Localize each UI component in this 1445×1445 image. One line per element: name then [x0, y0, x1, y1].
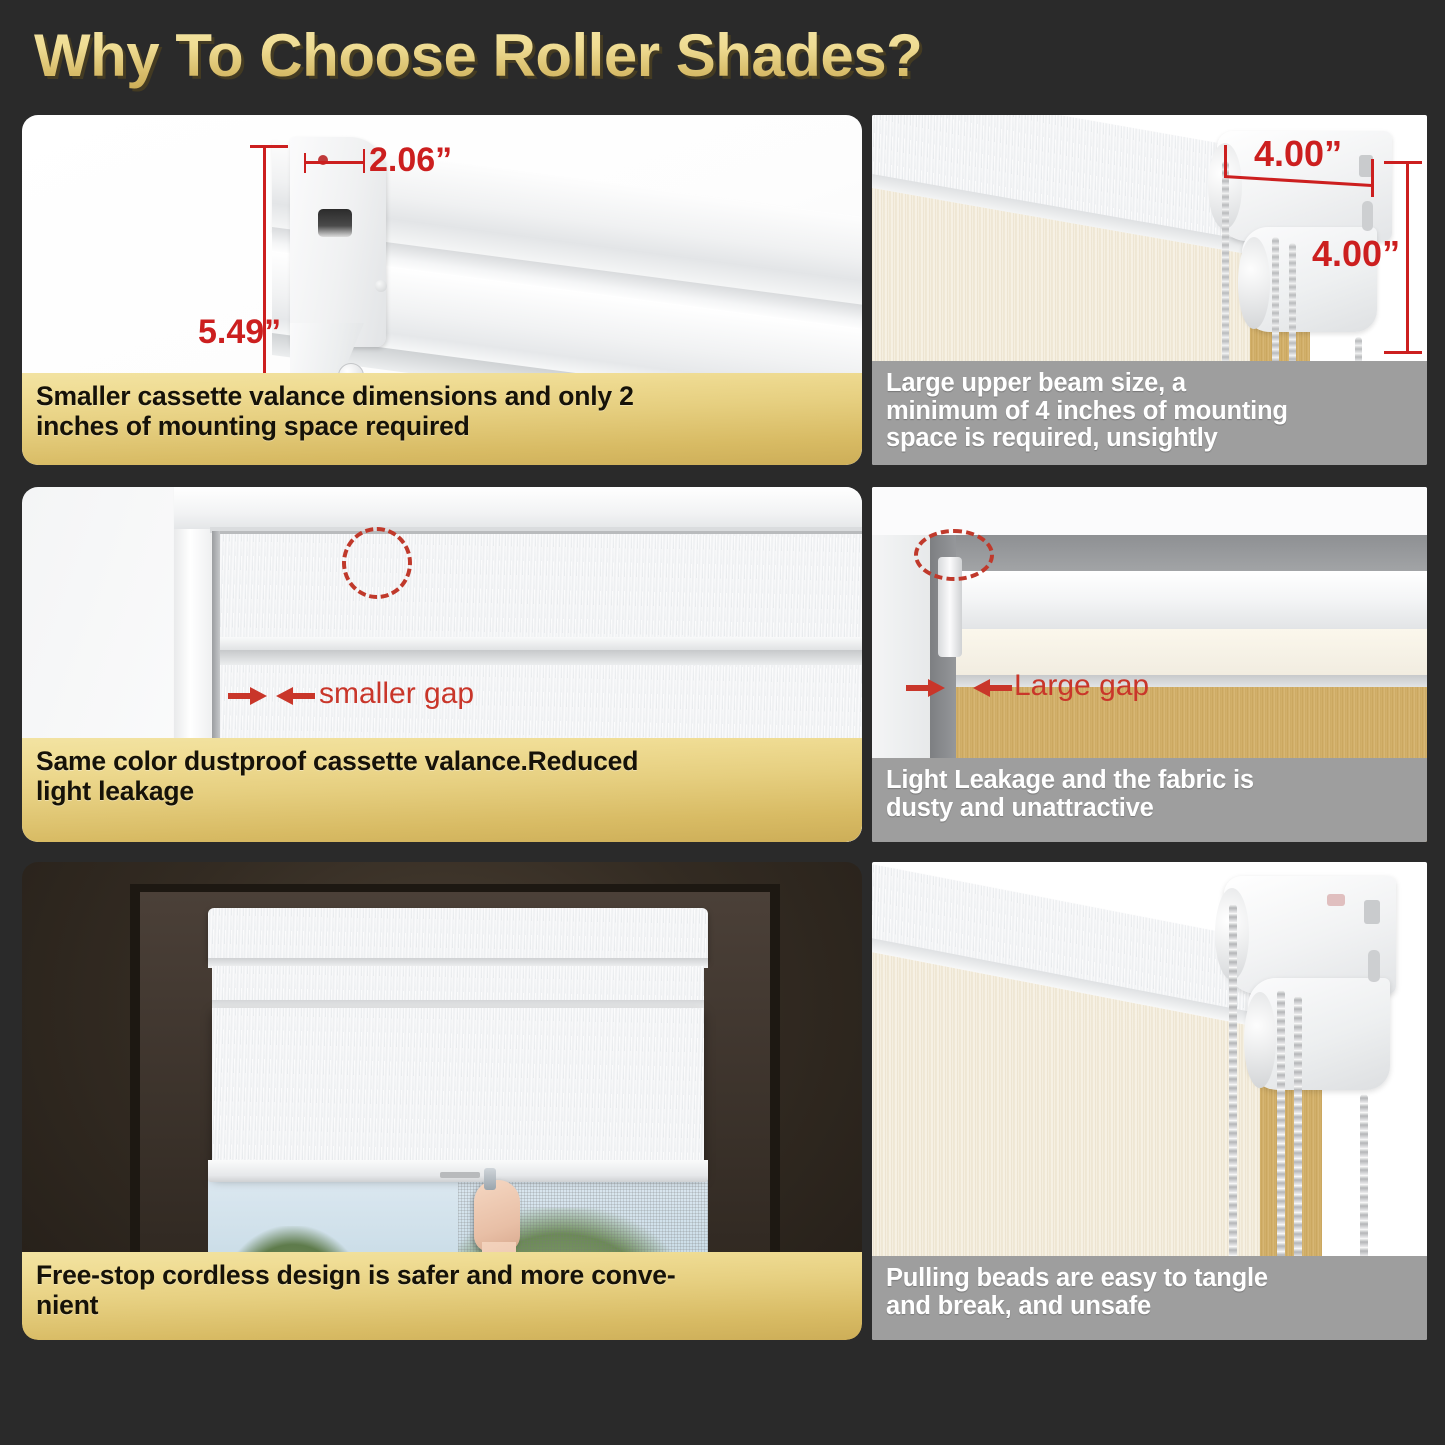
caption-line: and break, and unsafe [886, 1293, 1411, 1321]
caption-bottom-right: Pulling beads are easy to tangle and bre… [872, 1256, 1427, 1340]
highlight-ring-icon [914, 529, 994, 581]
dim-line-206 [304, 161, 365, 164]
bottom-rail-tab [440, 1172, 480, 1178]
dim-tick-549-top [250, 145, 288, 148]
panel-top-right: 4.00” 4.00” Large upper beam size, a min… [872, 115, 1427, 465]
arrow-left-icon [228, 685, 268, 712]
chain-slot [318, 209, 352, 237]
caption-line: minimum of 4 inches of mounting [886, 398, 1411, 426]
caption-line: space is required, unsightly [886, 425, 1411, 453]
pull-tab-icon [484, 1168, 496, 1190]
arrow-right-icon [972, 677, 1012, 704]
caption-line: nient [36, 1291, 846, 1320]
cassette-lower-face [212, 966, 704, 1002]
roller-end-bottom [1238, 237, 1270, 329]
cassette-valance-face [218, 531, 862, 639]
panel-bottom-right: Pulling beads are easy to tangle and bre… [872, 862, 1427, 1340]
dim-line-v [1406, 161, 1409, 353]
cassette-valance [208, 908, 708, 960]
caption-line: light leakage [36, 777, 846, 806]
caption-line: inches of mounting space required [36, 412, 846, 441]
upper-wall [872, 487, 1427, 535]
dimension-label-top-h: 4.00” [1254, 133, 1342, 175]
page-title: Why To Choose Roller Shades? [34, 18, 1034, 94]
caption-line: dusty and unattractive [886, 795, 1411, 823]
window-header-trim [174, 487, 862, 529]
shade-fabric-main [212, 1008, 704, 1176]
caption-middle-left: Same color dustproof cassette valance.Re… [22, 738, 862, 842]
arrow-left-icon [906, 677, 946, 704]
dimension-label-549: 5.49” [198, 313, 281, 352]
panel-top-left: 2.06” 5.49” Smaller cassette valance dim… [22, 115, 862, 465]
mounting-mark [1327, 894, 1345, 906]
caption-line: Free-stop cordless design is safer and m… [36, 1261, 846, 1290]
dim-tick-v-top [1384, 161, 1422, 164]
dim-tick-h-left [1224, 145, 1227, 177]
dimension-label-206: 2.06” [369, 141, 452, 180]
dim-tick-h-right [1371, 159, 1374, 197]
cassette-bottom-edge [218, 637, 862, 651]
caption-middle-right: Light Leakage and the fabric is dusty an… [872, 758, 1427, 842]
cassette-groove-shadow [218, 650, 862, 666]
mounting-slot-1 [1364, 900, 1380, 924]
caption-line: Smaller cassette valance dimensions and … [36, 382, 846, 411]
annotation-large-gap: Large gap [1014, 669, 1149, 703]
bottom-rail [208, 1160, 708, 1182]
dimension-label-top-v: 4.00” [1312, 233, 1400, 275]
infographic-page: Why To Choose Roller Shades? Why To Choo… [0, 0, 1445, 1445]
panel-middle-left: smaller gap Same color dustproof cassett… [22, 487, 862, 842]
caption-bottom-left: Free-stop cordless design is safer and m… [22, 1252, 862, 1340]
caption-line: Pulling beads are easy to tangle [886, 1265, 1411, 1293]
screw-mid [375, 280, 387, 292]
panel-bottom-left: Free-stop cordless design is safer and m… [22, 862, 862, 1340]
caption-line: Same color dustproof cassette valance.Re… [36, 747, 846, 776]
arrow-right-icon [275, 685, 315, 712]
mounting-slot-2 [1368, 950, 1380, 982]
caption-line: Light Leakage and the fabric is [886, 767, 1411, 795]
roller-end-bottom [1244, 992, 1276, 1088]
caption-line: Large upper beam size, a [886, 370, 1411, 398]
dim-tick-v-bottom [1384, 351, 1422, 354]
upper-beam [944, 571, 1427, 633]
annotation-smaller-gap: smaller gap [319, 677, 474, 711]
panel-middle-right: Large gap Light Leakage and the fabric i… [872, 487, 1427, 842]
mounting-slot-2 [1362, 201, 1373, 231]
highlight-ring-icon [342, 527, 412, 599]
caption-top-left: Smaller cassette valance dimensions and … [22, 373, 862, 465]
caption-top-right: Large upper beam size, a minimum of 4 in… [872, 361, 1427, 465]
cassette-lower-lip [212, 1000, 704, 1008]
